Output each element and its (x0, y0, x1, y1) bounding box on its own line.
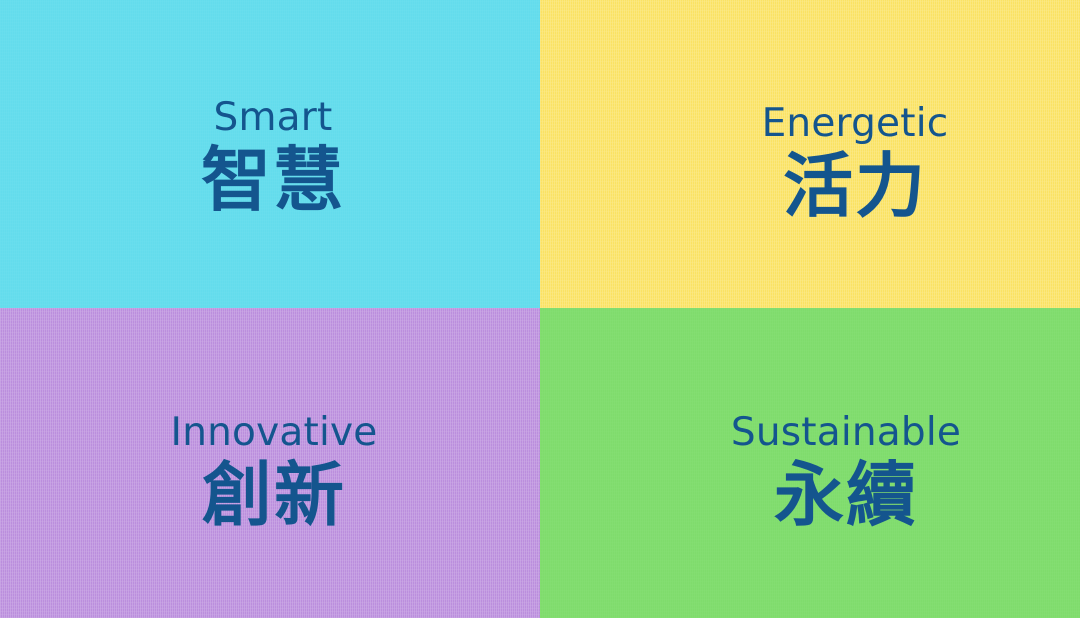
label-chinese-energetic: 活力 (783, 151, 927, 221)
label-chinese-innovative: 創新 (202, 460, 346, 530)
label-english-energetic: Energetic (762, 104, 949, 143)
text-block-smart: Smart 智慧 (201, 98, 345, 215)
label-chinese-sustainable: 永續 (774, 460, 918, 530)
quadrant-smart: Smart 智慧 (0, 0, 540, 308)
label-chinese-smart: 智慧 (201, 145, 345, 215)
brand-values-poster: Smart 智慧 Energetic 活力 Innovative 創新 Sust… (0, 0, 1080, 618)
text-block-sustainable: Sustainable 永續 (731, 413, 961, 530)
label-english-smart: Smart (214, 98, 333, 137)
quadrant-innovative: Innovative 創新 (0, 308, 540, 618)
text-block-innovative: Innovative 創新 (171, 413, 378, 530)
label-english-sustainable: Sustainable (731, 413, 961, 452)
quadrant-sustainable: Sustainable 永續 (540, 308, 1080, 618)
text-block-energetic: Energetic 活力 (762, 104, 949, 221)
quadrant-energetic: Energetic 活力 (540, 0, 1080, 308)
label-english-innovative: Innovative (171, 413, 378, 452)
